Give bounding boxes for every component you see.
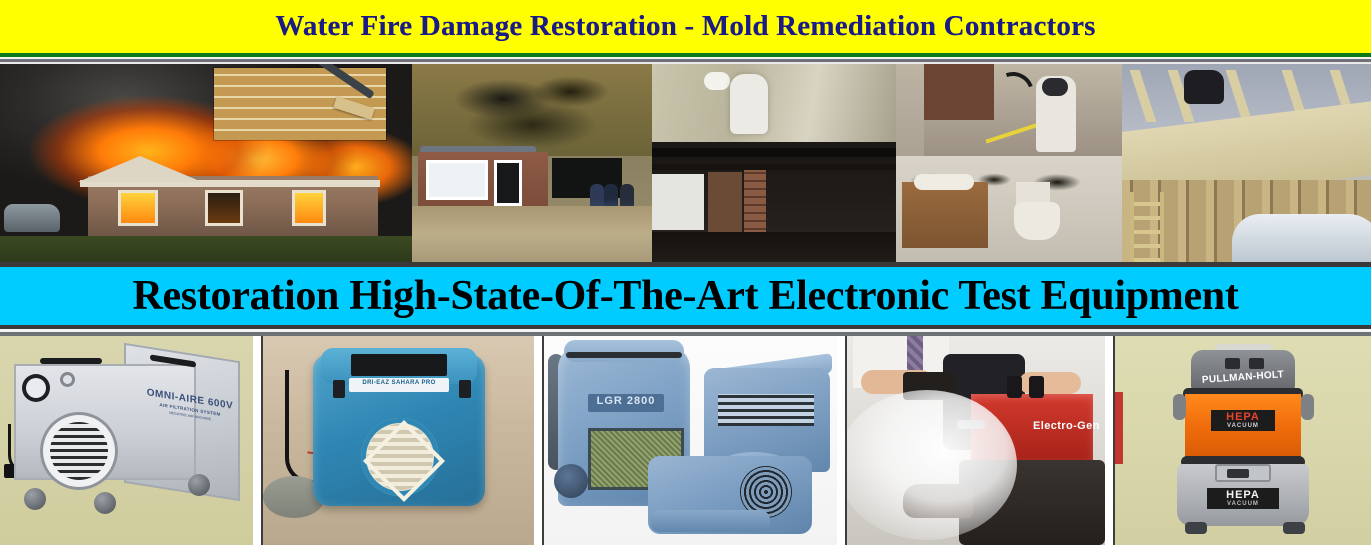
air-mover-brand-text: DRI-EAZ SAHARA PRO xyxy=(351,380,447,386)
fan-grill-shape xyxy=(50,422,108,480)
subtitle-banner: Restoration High-State-Of-The-Art Electr… xyxy=(0,267,1371,325)
product-image-air-mover[interactable]: DRI-EAZ SAHARA PRO xyxy=(263,336,534,545)
sink-basin-shape xyxy=(914,174,974,190)
vacuum-hepa-label-top: HEPA VACUUM xyxy=(1211,410,1275,431)
fogger-knob-left xyxy=(1007,376,1022,398)
collage-image-mold-remediation xyxy=(896,64,1122,262)
scrubber-handle-front xyxy=(40,358,102,364)
collage-image-house-fire xyxy=(0,64,412,262)
product-image-thermal-fogger[interactable]: Electro-Gen xyxy=(847,336,1105,545)
trowel-icon xyxy=(333,96,375,120)
front-door-shape xyxy=(494,160,522,206)
caster-wheel-1 xyxy=(24,488,46,510)
collage-inset-mold-ceiling xyxy=(652,64,896,142)
fogger-brand-text: Electro-Gen xyxy=(1033,420,1103,432)
floodwater-shape xyxy=(412,206,652,262)
air-mover-c-base-shape xyxy=(650,510,770,532)
roof-truss-1 xyxy=(1130,70,1157,122)
pressure-gauge-icon xyxy=(22,374,50,402)
respirator-mask-shape xyxy=(1042,78,1068,96)
vacuum-vacuum-text-bottom: VACUUM xyxy=(1207,501,1279,507)
page-title: Water Fire Damage Restoration - Mold Rem… xyxy=(275,12,1095,41)
damage-photo-collage xyxy=(0,64,1371,262)
ladder-shape xyxy=(1130,192,1164,262)
vacuum-hepa-text-top: HEPA xyxy=(1211,412,1275,423)
product-image-hepa-vacuum[interactable]: PULLMAN-HOLT HEPA VACUUM HEPA VACUUM xyxy=(1115,336,1371,545)
vanity-cabinet-shape xyxy=(902,182,988,248)
burning-window-1 xyxy=(118,190,158,226)
adjacent-photo-sliver xyxy=(1115,392,1123,464)
equipment-photo-row: OMNI-AIRE 600V AIR FILTRATION SYSTEM NEG… xyxy=(0,336,1371,545)
hazmat-worker-shape xyxy=(730,74,768,134)
air-mover-switch-left xyxy=(333,380,345,398)
vacuum-switch-right xyxy=(1249,358,1264,369)
subtitle-text: Restoration High-State-Of-The-Art Electr… xyxy=(132,275,1238,317)
product-image-dehumidifier[interactable]: LGR 2800 xyxy=(544,336,837,545)
collage-image-reconstruction-framing xyxy=(1122,64,1371,262)
air-mover-control-panel xyxy=(351,354,447,376)
collage-image-flood-house xyxy=(412,64,652,262)
air-mover-switch-right xyxy=(459,380,471,398)
dehumidifier-top-trim xyxy=(566,352,682,358)
vacuum-latch-right xyxy=(1301,394,1314,420)
brick-column-shape xyxy=(744,168,766,236)
burning-car-shape xyxy=(4,204,60,232)
debris-floor-shape xyxy=(652,232,896,262)
water-stained-ceiling-shape xyxy=(412,64,652,156)
parked-car-shape xyxy=(1232,214,1371,262)
dehumidifier-model-text: LGR 2800 xyxy=(588,395,664,407)
toilet-bowl-shape xyxy=(1014,202,1060,240)
collage-inset-brick-wall xyxy=(214,68,386,140)
air-mover-b-grill xyxy=(718,394,814,426)
lawn-shape xyxy=(0,236,412,262)
caster-wheel-3 xyxy=(188,474,210,496)
vacuum-inlet-hole xyxy=(1227,469,1249,478)
page-title-banner: Water Fire Damage Restoration - Mold Rem… xyxy=(0,0,1371,53)
house-gable-shape xyxy=(78,156,202,182)
vacuum-foot-left xyxy=(1185,522,1207,534)
charred-beam-2 xyxy=(652,164,896,170)
vacuum-hepa-label-bottom: HEPA VACUUM xyxy=(1207,488,1279,509)
chisel-icon xyxy=(317,64,375,99)
vacuum-foot-right xyxy=(1283,522,1305,534)
burnt-door-shape xyxy=(708,172,742,234)
collage-image-fire-damaged-interior xyxy=(652,64,896,262)
vacuum-vacuum-text-top: VACUUM xyxy=(1211,423,1275,429)
burning-window-3 xyxy=(292,190,326,226)
respirator-hood-shape xyxy=(704,72,730,90)
speed-knob-icon xyxy=(60,372,75,387)
bay-window-shape xyxy=(426,160,488,200)
fogger-knob-right xyxy=(1029,376,1044,398)
vacuum-latch-left xyxy=(1173,394,1186,420)
dehumidifier-top-shape xyxy=(564,340,684,362)
vacuum-switch-left xyxy=(1225,358,1240,369)
dehumidifier-wheel-shape xyxy=(554,464,588,498)
roof-truss-3 xyxy=(1226,70,1253,122)
roofer-worker-shape xyxy=(1184,70,1224,104)
vacuum-hepa-text-bottom: HEPA xyxy=(1207,490,1279,501)
product-image-air-scrubber[interactable]: OMNI-AIRE 600V AIR FILTRATION SYSTEM NEG… xyxy=(0,336,253,545)
page-root: Water Fire Damage Restoration - Mold Rem… xyxy=(0,0,1371,545)
interior-doorway-shape xyxy=(924,64,994,120)
charred-beam-1 xyxy=(652,148,896,157)
burning-window-2 xyxy=(205,190,243,226)
caster-wheel-2 xyxy=(94,492,116,514)
blown-out-window-shape xyxy=(652,174,704,230)
